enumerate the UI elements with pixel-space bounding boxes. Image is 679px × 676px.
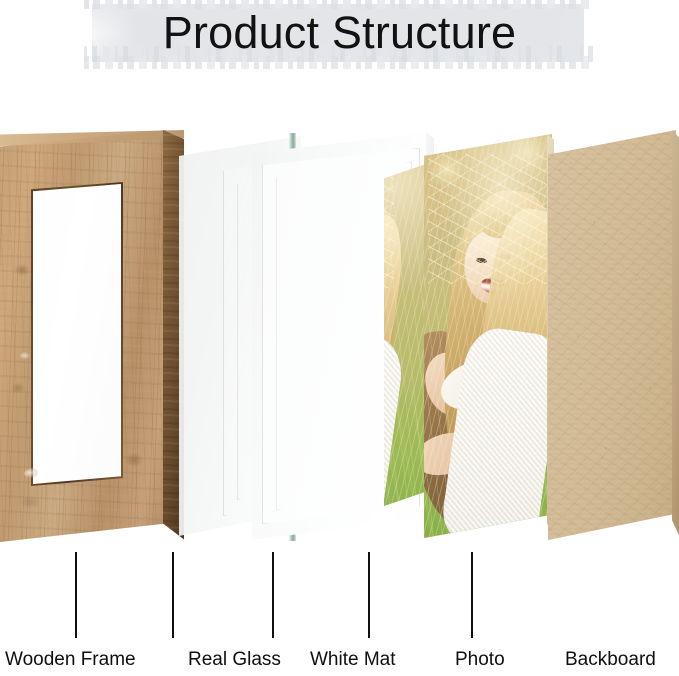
leader-line-wooden-frame [75,552,77,638]
leader-line-photo [368,552,370,638]
label-wooden-frame: Wooden Frame [5,648,136,672]
label-backboard: Backboard [565,648,656,672]
leader-lines [0,0,679,676]
leader-line-backboard [471,552,473,638]
layer-labels: Wooden Frame Real Glass White Mat Photo … [0,648,679,676]
leader-line-real-glass [172,552,174,638]
label-white-mat: White Mat [310,648,396,672]
product-structure-infographic: Product Structure [0,0,679,676]
label-photo: Photo [455,648,505,672]
label-real-glass: Real Glass [188,648,281,672]
leader-line-white-mat [272,552,274,638]
